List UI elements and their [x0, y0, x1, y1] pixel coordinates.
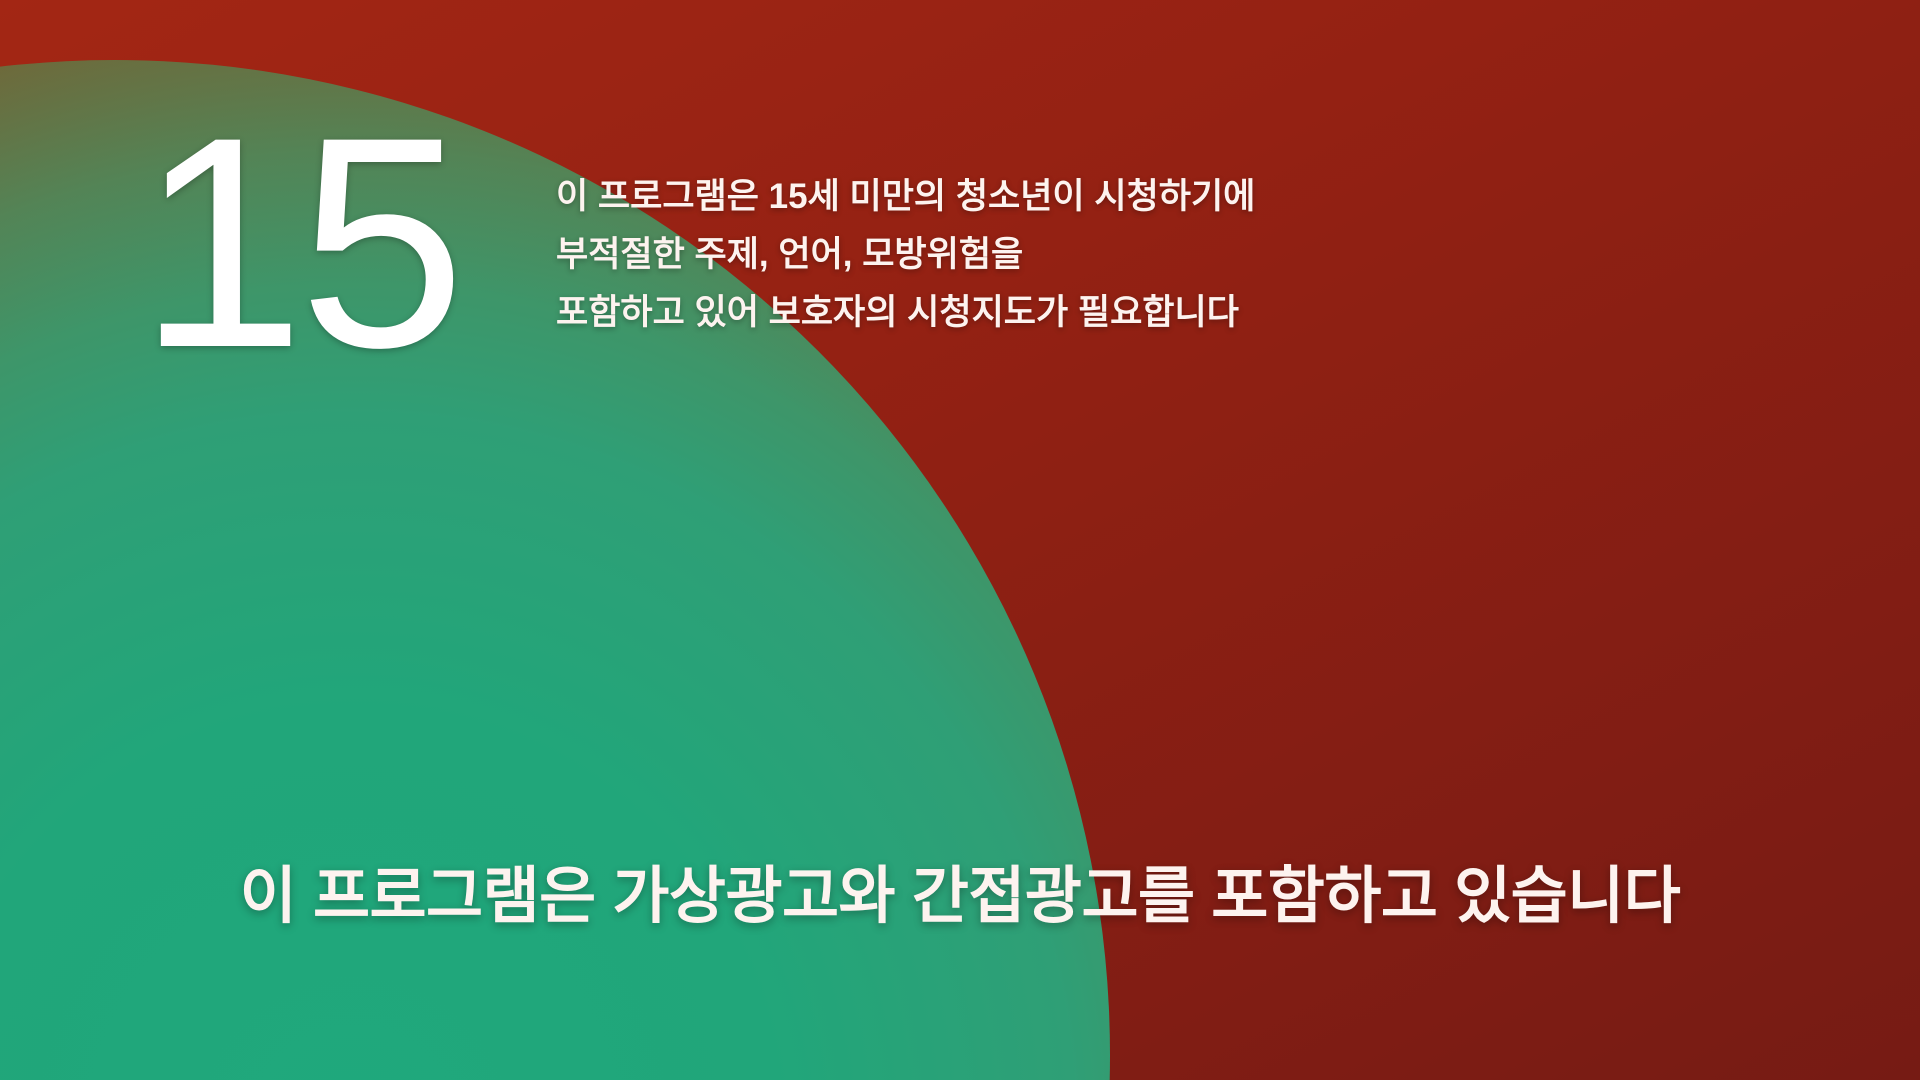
advisory-line-3: 포함하고 있어 보호자의 시청지도가 필요합니다 [556, 284, 1456, 342]
rating-row: 15 이 프로그램은 15세 미만의 청소년이 시청하기에 부적절한 주제, 언… [0, 0, 1920, 420]
bottom-advertising-notice: 이 프로그램은 가상광고와 간접광고를 포함하고 있습니다 [0, 862, 1920, 931]
advisory-text-block: 이 프로그램은 15세 미만의 청소년이 시청하기에 부적절한 주제, 언어, … [556, 168, 1456, 342]
age-rating-15-badge: 15 [138, 92, 460, 392]
advisory-line-1: 이 프로그램은 15세 미만의 청소년이 시청하기에 [556, 168, 1456, 226]
rating-overlay-screen: 15 이 프로그램은 15세 미만의 청소년이 시청하기에 부적절한 주제, 언… [0, 0, 1920, 1080]
advisory-line-2: 부적절한 주제, 언어, 모방위험을 [556, 226, 1456, 284]
